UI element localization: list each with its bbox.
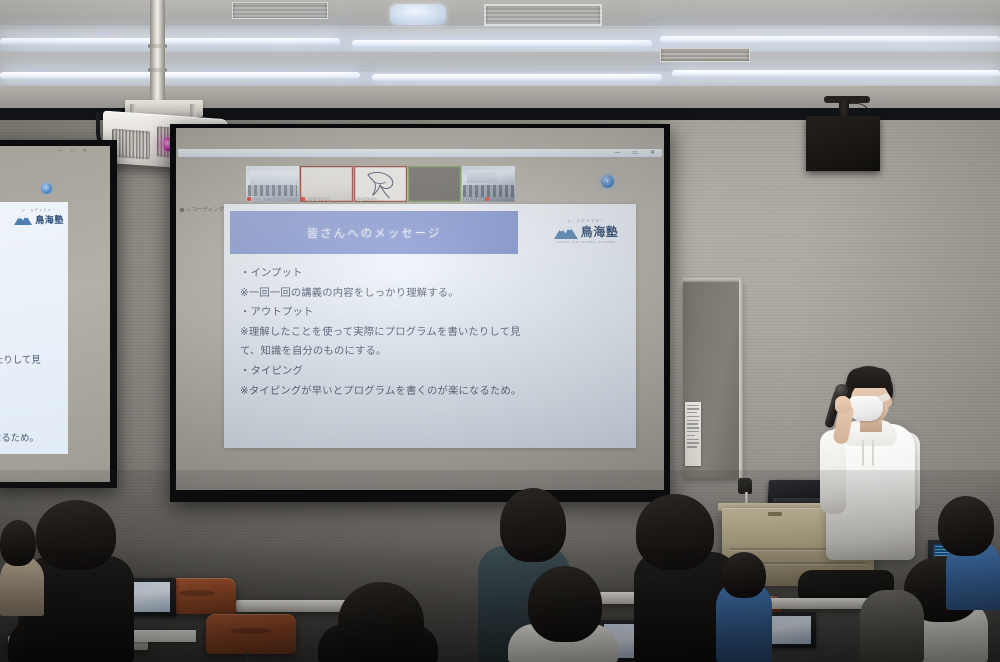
fluorescent-tube-4 [0,72,360,79]
logo-footer-text: CHOKAI JUKU GLOBAL ACADEMY [556,241,616,244]
video-tile[interactable]: Yagi House [354,166,407,202]
tile-name: 301 カメラ [463,197,484,202]
presentation-slide: 皆さんへのメッセージ ジ・エデドラマー 鳥海塾 CHOKAI JUKU GLOB… [224,204,636,448]
left-logo-kanji: 鳥海塾 [35,213,64,226]
video-tile-label: Yagi House [355,197,406,202]
presenter-hand [835,396,851,413]
ceiling-vent-3 [660,48,750,62]
whiteboard-edge [739,280,743,478]
tile-name: Yagi House [355,197,377,202]
audience-head [938,496,994,556]
presenter-face-mask [849,396,883,421]
wall-speaker [806,116,880,171]
left-visible-line-2: なるため。 [0,430,39,444]
video-tile[interactable]: 301 カメラ [462,166,515,202]
projector-mount-pole [150,0,165,104]
slide-line: ・アウトプット [240,303,622,323]
bird-logo-icon [362,170,400,200]
mic-muted-icon [301,197,305,202]
audience-head [528,566,602,642]
video-tile[interactable]: 日本海テレビ [300,166,353,202]
mountain-icon [554,224,578,239]
ceiling-dome-light [390,4,446,25]
left-slide-logo: ジ・エデドラマー 鳥海塾 [14,208,64,226]
video-tile-label: 日本海テレビ [301,197,352,202]
recording-indicator: レコーディング [180,206,224,213]
audience-head [722,552,766,598]
left-visible-line-1: たりして見 [0,352,41,366]
slide-line: ※理解したことを使って実際にプログラムを書いたりして見 [240,323,622,343]
mountain-icon [14,213,32,225]
main-projection-screen: — ▭ ✕ レコーディング 101教室 カメラ 日本海テレビ [176,128,664,490]
slide-title-bar: 皆さんへのメッセージ [230,211,518,254]
mic-muted-icon [485,197,489,202]
video-tile[interactable]: 101教室 カメラ [246,166,299,202]
audience-head [0,520,36,566]
video-filmstrip: 101教室 カメラ 日本海テレビ Yagi House [246,166,515,202]
recording-label: レコーディング [187,206,224,213]
chair-leg [246,652,249,662]
next-page-button[interactable]: › [601,175,614,188]
notebook [124,630,196,642]
projector-vent-left [112,129,150,160]
mic-muted-icon [247,197,251,202]
fluorescent-tube-1 [0,38,340,45]
slide-body: ・インプット ※一回一回の講義の内容をしっかり理解する。 ・アウトプット ※理解… [240,264,622,401]
logo-kanji: 鳥海塾 [581,223,619,240]
lecture-hall-scene: — ▭ ✕ › ジ・エデドラマー 鳥海塾 たりして見 なるため。 [0,0,1000,662]
slide-line: ・インプット [240,264,622,284]
left-projection-screen: — ▭ ✕ › ジ・エデドラマー 鳥海塾 たりして見 なるため。 [0,146,110,482]
audience-head [500,488,566,562]
posted-notice [685,402,701,466]
window-controls[interactable]: — ▭ ✕ [614,149,660,157]
record-dot-icon [180,208,184,212]
app-title-bar [178,149,662,157]
projector-pole-ring-1 [148,44,167,48]
slide-line: て、知識を自分のものにする。 [240,342,622,362]
logo-mid-row: 鳥海塾 [554,223,619,240]
hoodie-drawstring-right [872,440,874,466]
presenter-fringe [847,368,891,388]
slide-line: ※一回一回の講義の内容をしっかり理解する。 [240,284,622,304]
fluorescent-tube-6 [672,70,1000,77]
tile-name: 日本海テレビ [307,197,331,202]
video-tile-label: 301 カメラ [463,197,514,202]
video-tile[interactable] [408,166,461,202]
left-window-controls[interactable]: — ▭ ✕ [58,148,90,154]
fluorescent-tube-5 [372,74,662,81]
slide-line: ・タイピング [240,362,622,382]
audience-torso [860,590,924,662]
slide-line: ※タイピングが早いとプログラムを書くのが楽になるため。 [240,382,622,402]
chair [206,614,296,654]
fluorescent-tube-3 [660,36,1000,43]
video-tile-label: 101教室 カメラ [247,197,298,202]
fluorescent-tube-2 [352,40,652,47]
logo-subtitle: ジ・エデドラマー [567,218,605,223]
slide-logo: ジ・エデドラマー 鳥海塾 CHOKAI JUKU GLOBAL ACADEMY [545,213,627,248]
audience-head [338,582,424,662]
audience-head [636,494,714,570]
audience-head [36,500,116,570]
ceiling-vent-2 [484,4,602,26]
left-logo-mid: 鳥海塾 [14,213,64,226]
slide-title: 皆さんへのメッセージ [307,225,442,241]
hoodie-drawstring-left [862,440,864,466]
left-next-arrow[interactable]: › [41,183,52,194]
tile-name: 101教室 カメラ [253,197,282,202]
ceiling-vent-1 [232,2,328,19]
left-logo-subtitle: ジ・エデドラマー [22,208,56,212]
projector-pole-ring-2 [148,68,167,72]
left-slide: ジ・エデドラマー 鳥海塾 たりして見 なるため。 [0,202,68,454]
